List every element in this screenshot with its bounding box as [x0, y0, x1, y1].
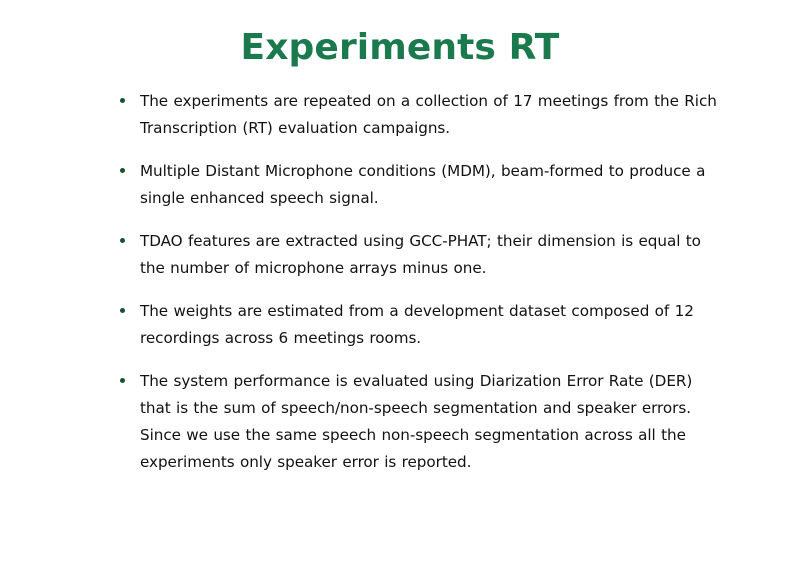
bullet-point-icon — [120, 98, 125, 103]
bullet-point-icon — [120, 238, 125, 243]
list-item-text: The experiments are repeated on a collec… — [140, 88, 727, 142]
list-item: The system performance is evaluated usin… — [113, 368, 727, 476]
list-item-text: The weights are estimated from a develop… — [140, 298, 727, 352]
list-item: Multiple Distant Microphone conditions (… — [113, 158, 727, 212]
list-item-text: Multiple Distant Microphone conditions (… — [140, 158, 727, 212]
bullet-list: The experiments are repeated on a collec… — [113, 88, 727, 476]
bullet-point-icon — [120, 168, 125, 173]
presentation-slide: Experiments RT The experiments are repea… — [0, 0, 800, 565]
list-item-text: The system performance is evaluated usin… — [140, 368, 727, 476]
list-item: The experiments are repeated on a collec… — [113, 88, 727, 142]
page-title: Experiments RT — [0, 26, 800, 70]
list-item: The weights are estimated from a develop… — [113, 298, 727, 352]
bullet-point-icon — [120, 378, 125, 383]
bullet-point-icon — [120, 308, 125, 313]
list-item: TDAO features are extracted using GCC-PH… — [113, 228, 727, 282]
list-item-text: TDAO features are extracted using GCC-PH… — [140, 228, 727, 282]
